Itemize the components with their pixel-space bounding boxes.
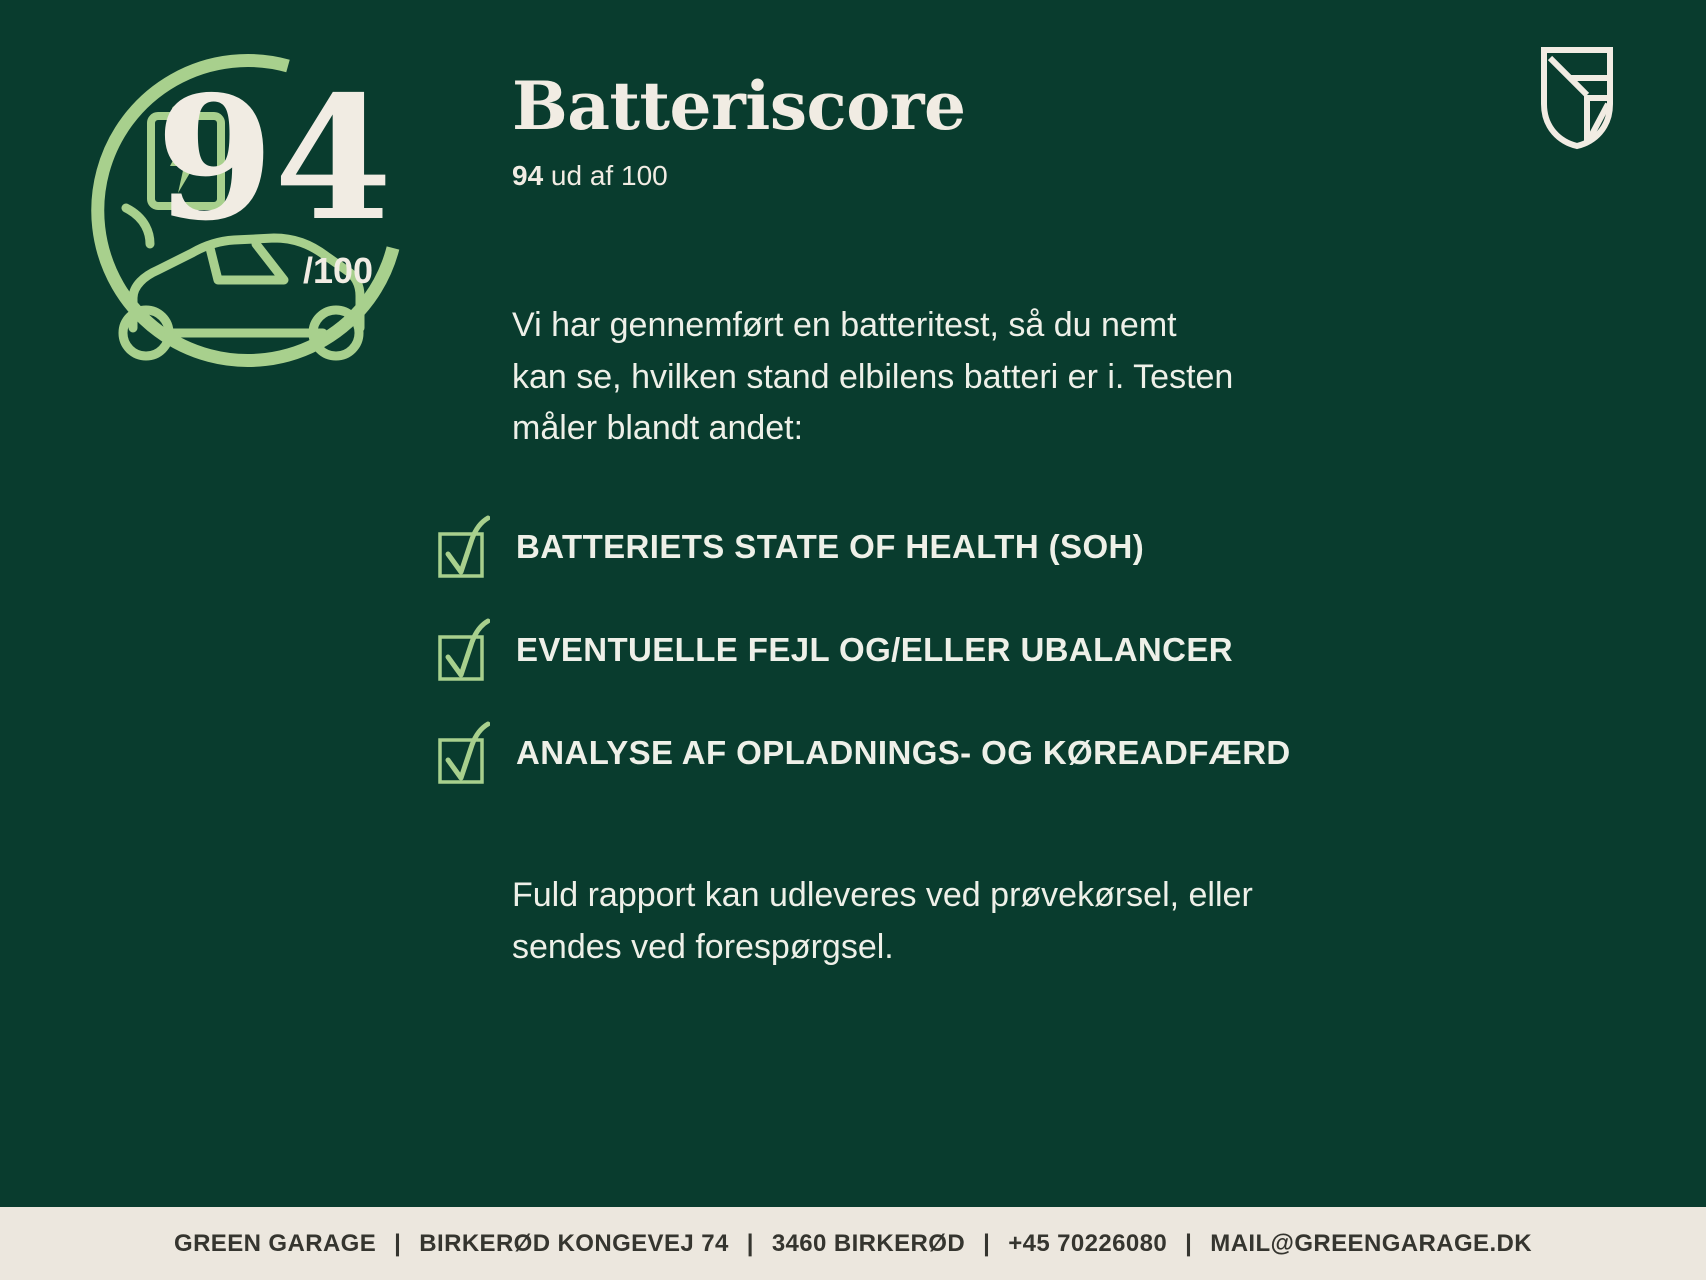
score-subtitle: 94 ud af 100 [512,160,1412,192]
page-title: Batteriscore [512,72,1412,142]
subtitle-score-value: 94 [512,160,543,191]
footer-contact-line: GREEN GARAGE | BIRKERØD KONGEVEJ 74 | 34… [174,1230,1532,1258]
footer-company: GREEN GARAGE [174,1230,376,1258]
batteriscore-card: 94 /100 Batteriscore 94 ud af 100 Vi har… [0,0,1706,1280]
footer-separator: | [1167,1230,1210,1258]
battery-score-badge: 94 /100 [88,48,418,388]
subtitle-score-rest: ud af 100 [543,160,668,191]
checklist-item-label: EVENTUELLE FEJL OG/ELLER UBALANCER [516,631,1233,669]
closing-paragraph: Fuld rapport kan udleveres ved prøvekørs… [512,870,1392,973]
checked-checkbox-icon [436,615,490,685]
checklist-item-label: ANALYSE AF OPLADNINGS- OG KØREADFÆRD [516,734,1291,772]
score-value: 94 [156,59,393,259]
footer-separator: | [376,1230,419,1258]
checklist-item: ANALYSE AF OPLADNINGS- OG KØREADFÆRD [436,718,1556,788]
footer-bar: GREEN GARAGE | BIRKERØD KONGEVEJ 74 | 34… [0,1207,1706,1280]
footer-separator: | [729,1230,772,1258]
checked-checkbox-icon [436,512,490,582]
checklist-item: BATTERIETS STATE OF HEALTH (SOH) [436,512,1556,582]
checked-checkbox-icon [436,718,490,788]
footer-phone[interactable]: +45 70226080 [1008,1230,1167,1258]
header-block: Batteriscore 94 ud af 100 [512,72,1412,192]
score-denominator: /100 [303,250,373,291]
checklist-item-label: BATTERIETS STATE OF HEALTH (SOH) [516,528,1144,566]
green-garage-shield-logo [1540,46,1614,150]
footer-separator: | [965,1230,1008,1258]
checklist-item: EVENTUELLE FEJL OG/ELLER UBALANCER [436,615,1556,685]
intro-paragraph: Vi har gennemført en batteritest, så du … [512,300,1342,455]
footer-address: BIRKERØD KONGEVEJ 74 [419,1230,728,1258]
feature-checklist: BATTERIETS STATE OF HEALTH (SOH) EVENTUE… [436,512,1556,821]
footer-postal-city: 3460 BIRKERØD [772,1230,965,1258]
footer-email[interactable]: MAIL@GREENGARAGE.DK [1210,1230,1532,1258]
